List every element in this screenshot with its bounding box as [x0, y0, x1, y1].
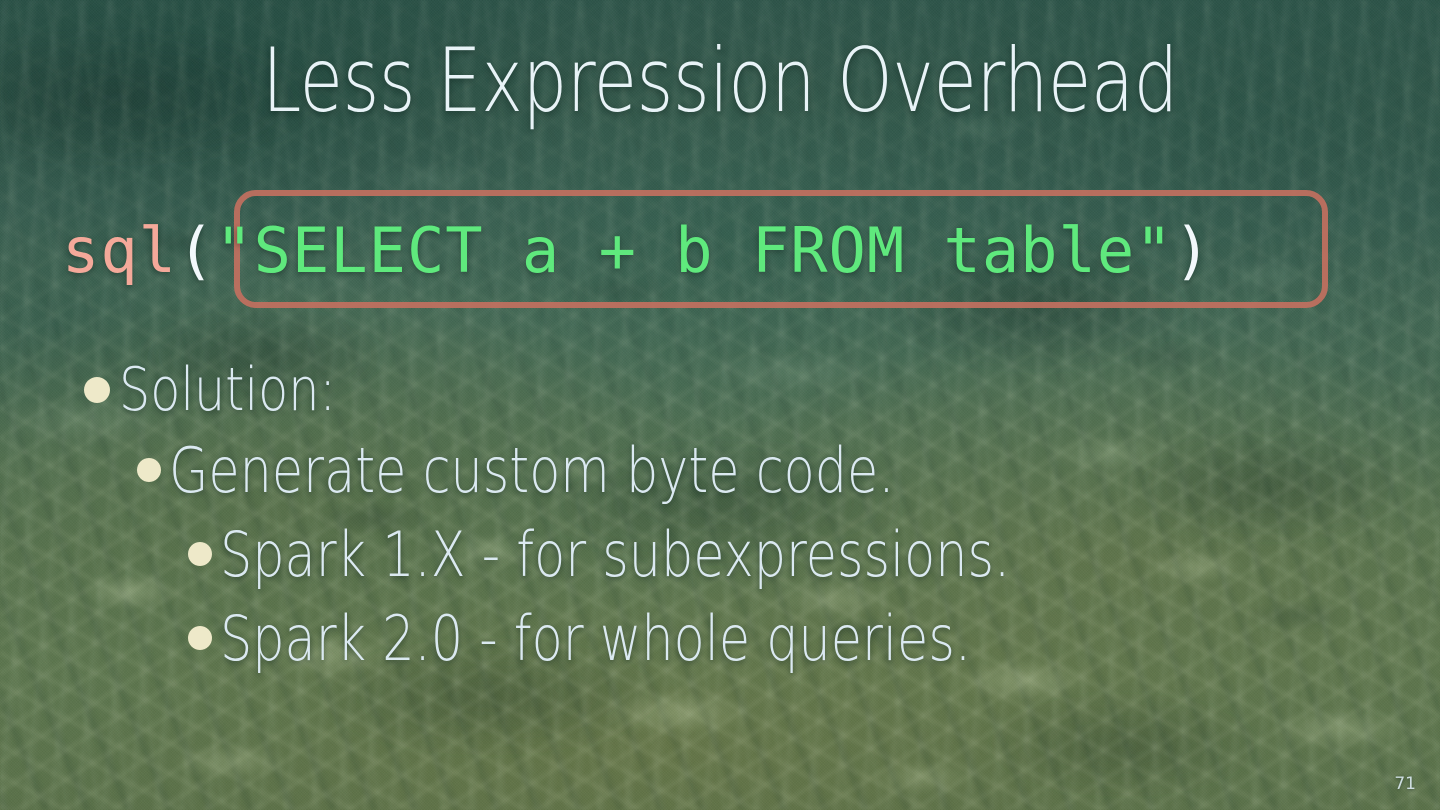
bullet-item-generate-byte-code: Generate custom byte code. — [0, 428, 1440, 512]
bullet-item-spark-1x: Spark 1.X - for subexpressions. — [0, 512, 1440, 596]
slide-page-number: 71 — [1394, 774, 1416, 794]
slide-title: Less Expression Overhead — [144, 36, 1296, 126]
bullet-item-spark-20: Spark 2.0 - for whole queries. — [0, 596, 1440, 680]
bullet-marker-icon — [137, 458, 161, 482]
code-function-name: sql — [62, 208, 177, 294]
code-string-literal: "SELECT a + b FROM table" — [215, 208, 1173, 294]
bullet-marker-icon — [84, 377, 110, 403]
bullet-text: Spark 2.0 - for whole queries. — [220, 602, 971, 675]
code-snippet: sql ( "SELECT a + b FROM table" ) — [62, 208, 1212, 294]
bullet-marker-icon — [188, 626, 212, 650]
presentation-slide: Less Expression Overhead sql ( "SELECT a… — [0, 0, 1440, 810]
bullet-item-solution: Solution: — [0, 352, 1440, 428]
bullet-text: Spark 1.X - for subexpressions. — [220, 518, 1010, 591]
bullet-marker-icon — [188, 542, 212, 566]
bullet-list: Solution: Generate custom byte code. Spa… — [0, 352, 1440, 680]
code-open-paren: ( — [177, 208, 215, 294]
slide-content: Less Expression Overhead sql ( "SELECT a… — [0, 0, 1440, 810]
code-close-paren: ) — [1174, 208, 1212, 294]
bullet-text: Generate custom byte code. — [169, 434, 894, 507]
bullet-text: Solution: — [119, 355, 336, 425]
